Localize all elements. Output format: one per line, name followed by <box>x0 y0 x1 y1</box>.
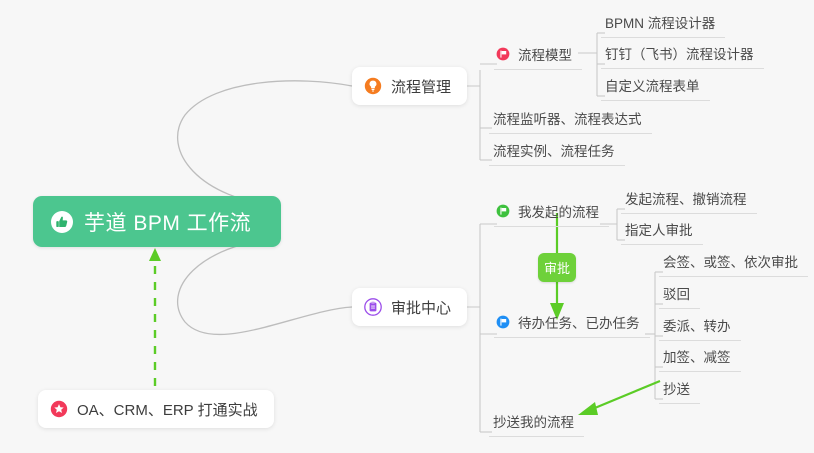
branch-label: 流程管理 <box>391 76 451 97</box>
leaf-bpmn-designer[interactable]: BPMN 流程设计器 <box>601 10 725 38</box>
branch-node-approval-center[interactable]: 审批中心 <box>352 288 467 326</box>
approve-tag[interactable]: 审批 <box>538 253 576 282</box>
leaf-cc-to-me-flows[interactable]: 抄送我的流程 <box>489 409 584 437</box>
leaf-countersign-modes[interactable]: 会签、或签、依次审批 <box>659 249 808 277</box>
leaf-label: 待办任务、已办任务 <box>518 312 640 332</box>
leaf-flow-instance-task[interactable]: 流程实例、流程任务 <box>489 138 625 166</box>
arrow-cc-to-ccmine <box>578 381 660 415</box>
flag-icon <box>496 315 510 329</box>
leaf-reject[interactable]: 驳回 <box>659 281 700 309</box>
leaf-cc[interactable]: 抄送 <box>659 376 700 404</box>
footer-label: OA、CRM、ERP 打通实战 <box>77 399 258 420</box>
footer-node-oa-crm-erp[interactable]: OA、CRM、ERP 打通实战 <box>38 390 274 428</box>
root-label: 芋道 BPM 工作流 <box>84 207 251 237</box>
leaf-label: 我发起的流程 <box>518 201 599 221</box>
dashed-arrow-footer-to-root <box>149 248 161 386</box>
root-node[interactable]: 芋道 BPM 工作流 <box>33 196 281 247</box>
branch-node-flow-management[interactable]: 流程管理 <box>352 67 467 105</box>
leaf-custom-form[interactable]: 自定义流程表单 <box>601 73 710 101</box>
lightbulb-icon <box>364 77 382 95</box>
leaf-start-cancel-flow[interactable]: 发起流程、撤销流程 <box>621 186 757 214</box>
leaf-my-initiated-flows[interactable]: 我发起的流程 <box>494 199 609 227</box>
star-icon <box>50 400 68 418</box>
leaf-delegate-transfer[interactable]: 委派、转办 <box>659 313 741 341</box>
flag-icon <box>496 204 510 218</box>
thumbs-up-icon <box>50 210 74 234</box>
edge-root-to-approval <box>178 238 352 334</box>
leaf-dingtalk-designer[interactable]: 钉钉（飞书）流程设计器 <box>601 41 764 69</box>
leaf-label: 流程模型 <box>518 44 572 64</box>
leaf-todo-done-tasks[interactable]: 待办任务、已办任务 <box>494 310 650 338</box>
mindmap-canvas: 芋道 BPM 工作流 流程管理 流程模型 BPMN 流程设计器 钉钉（飞书）流程… <box>0 0 814 453</box>
leaf-flow-model[interactable]: 流程模型 <box>494 42 582 70</box>
flag-icon <box>496 47 510 61</box>
branch-label: 审批中心 <box>391 297 451 318</box>
edge-root-to-flow <box>178 81 352 206</box>
leaf-flow-listener-expression[interactable]: 流程监听器、流程表达式 <box>489 106 652 134</box>
leaf-assigned-approver[interactable]: 指定人审批 <box>621 217 703 245</box>
clipboard-icon <box>364 298 382 316</box>
leaf-add-remove-sign[interactable]: 加签、减签 <box>659 344 741 372</box>
